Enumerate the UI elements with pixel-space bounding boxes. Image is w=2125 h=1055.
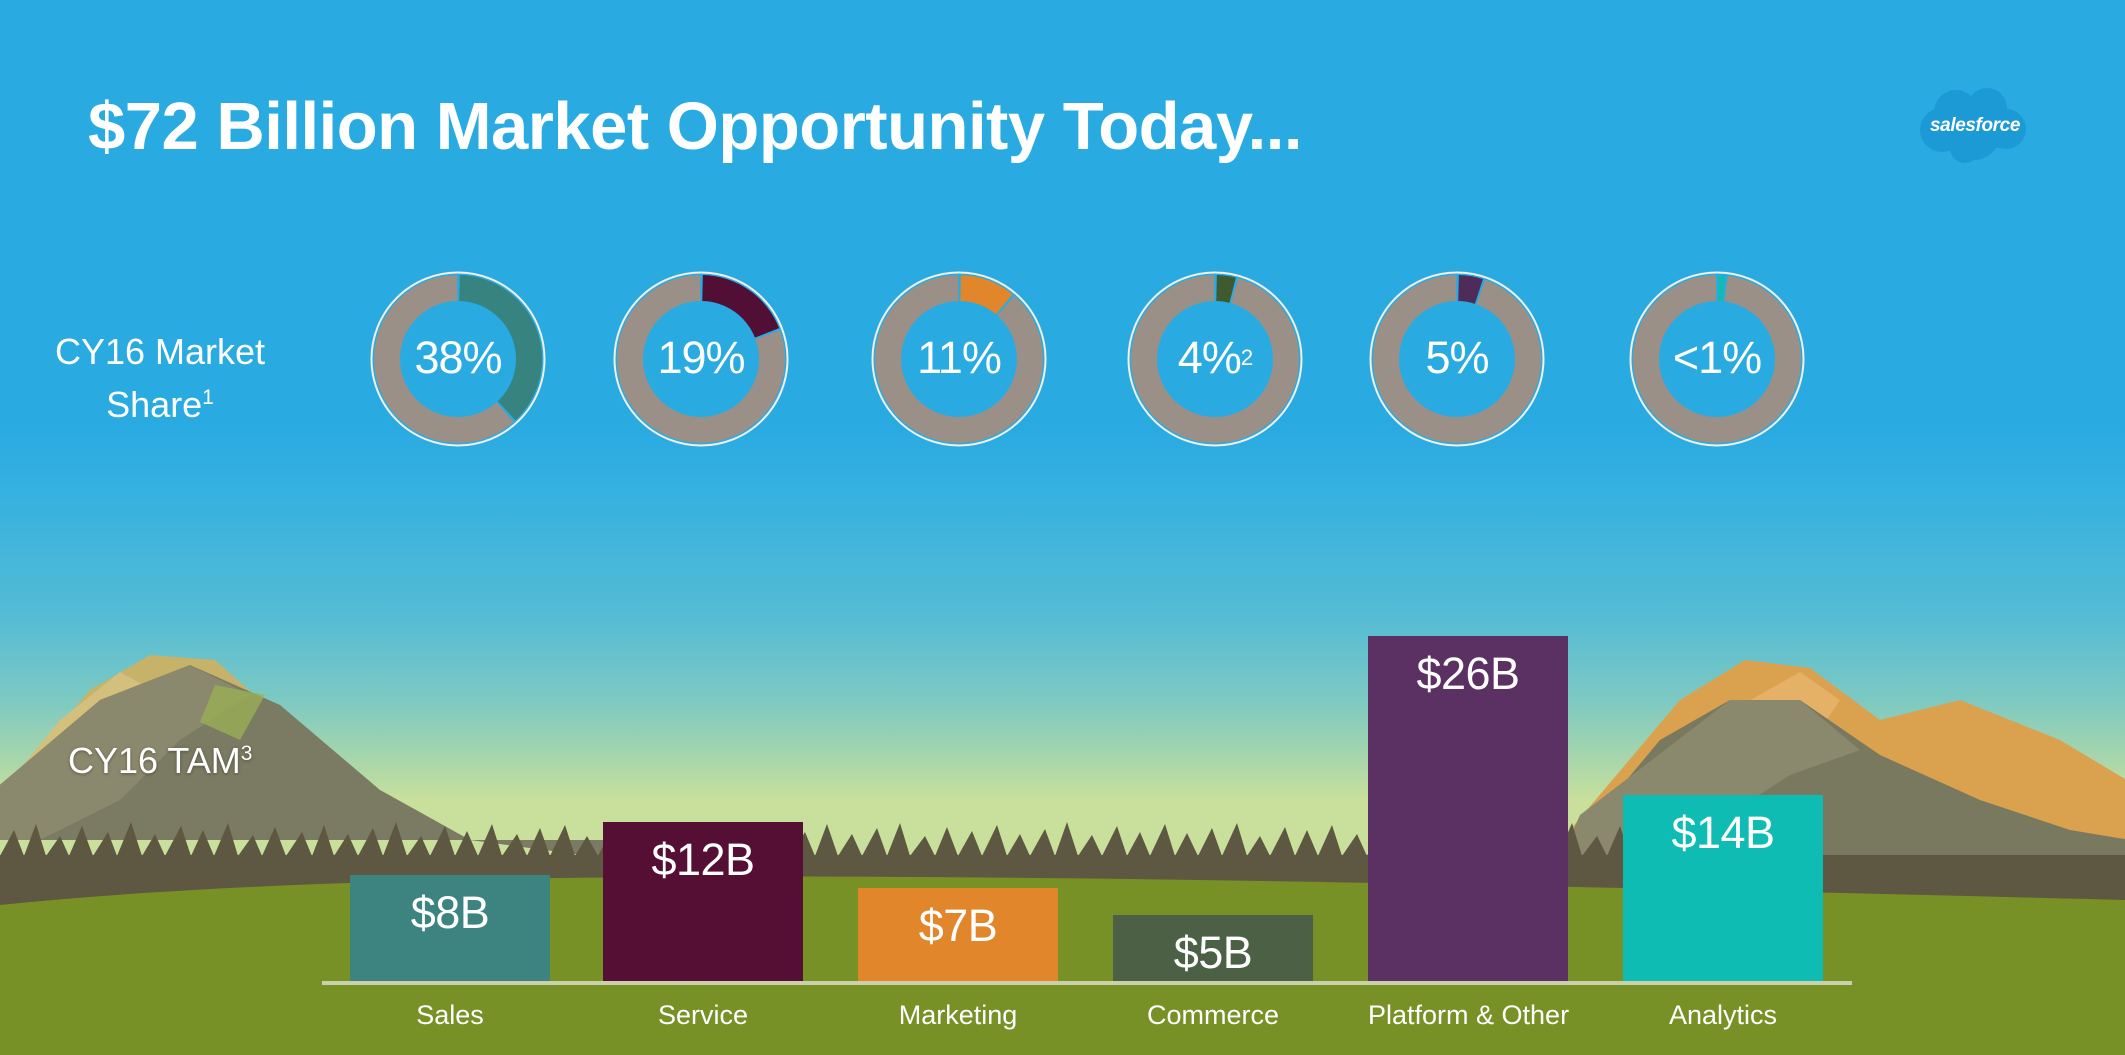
tam-bar: $5B [1113, 915, 1313, 981]
tam-bar-value-label: $5B [1174, 915, 1253, 979]
slide-canvas: $72 Billion Market Opportunity Today... … [0, 0, 2125, 1055]
chart-baseline [322, 981, 1852, 985]
tam-bar-chart: $8BSales$12BService$7BMarketing$5BCommer… [0, 0, 2125, 1055]
tam-bar: $26B [1368, 636, 1568, 981]
tam-bar-value-label: $8B [411, 875, 490, 939]
tam-category-label: Platform & Other [1368, 1000, 1568, 1031]
tam-category-label: Commerce [1113, 1000, 1313, 1031]
tam-bar: $8B [350, 875, 550, 981]
tam-bar: $7B [858, 888, 1058, 981]
tam-bar-value-label: $7B [919, 888, 998, 952]
tam-category-label: Sales [350, 1000, 550, 1031]
tam-bar-value-label: $12B [651, 822, 754, 886]
tam-category-label: Service [603, 1000, 803, 1031]
tam-bar-value-label: $14B [1671, 795, 1774, 859]
tam-bar-value-label: $26B [1416, 636, 1519, 700]
tam-category-label: Analytics [1623, 1000, 1823, 1031]
tam-bar: $14B [1623, 795, 1823, 981]
tam-category-label: Marketing [858, 1000, 1058, 1031]
tam-bar: $12B [603, 822, 803, 981]
